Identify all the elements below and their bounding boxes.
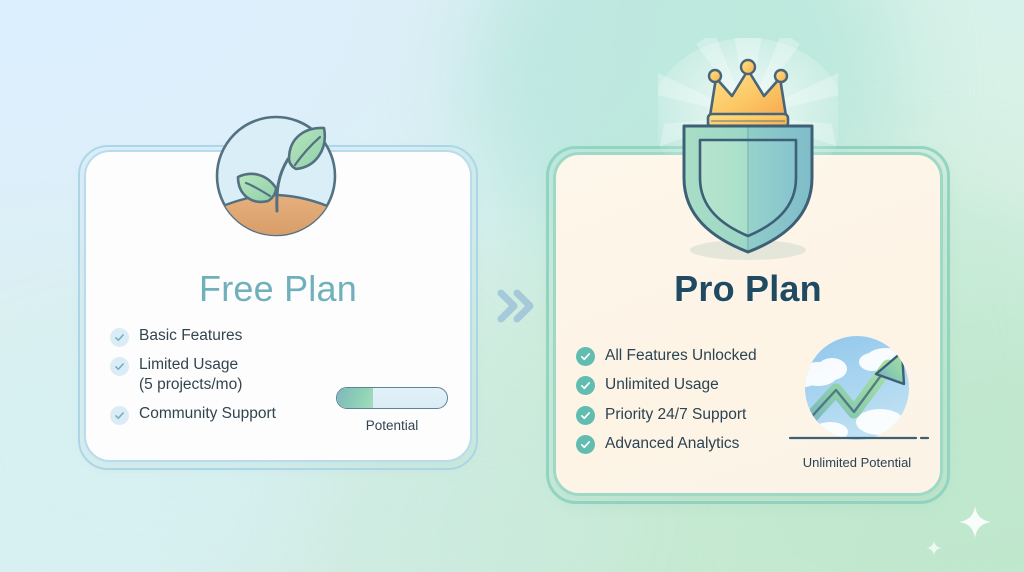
growth-chart-group: Unlimited Potential — [784, 336, 930, 470]
potential-slider-group: Potential — [333, 387, 451, 433]
feature-label: Priority 24/7 Support — [605, 405, 746, 425]
chevron-right-icon — [492, 283, 538, 334]
feature-item: Priority 24/7 Support — [576, 405, 796, 425]
feature-item: Basic Features — [110, 326, 360, 347]
poster-stage: Free Plan Basic Features Limited Usage (… — [0, 0, 1024, 572]
check-icon — [110, 328, 129, 347]
feature-item: All Features Unlocked — [576, 346, 796, 366]
feature-label: Unlimited Usage — [605, 375, 719, 395]
potential-slider[interactable] — [336, 387, 448, 409]
feature-item: Unlimited Usage — [576, 375, 796, 395]
feature-label: Basic Features — [139, 326, 242, 346]
feature-label: Advanced Analytics — [605, 434, 739, 454]
sprout-icon — [210, 115, 342, 237]
feature-item: Advanced Analytics — [576, 434, 796, 454]
growth-arrow-icon — [784, 336, 930, 453]
crowned-shield-icon — [658, 38, 838, 266]
pro-plan-title: Pro Plan — [553, 268, 943, 310]
feature-label: Limited Usage (5 projects/mo) — [139, 355, 242, 396]
free-plan-title: Free Plan — [0, 268, 556, 310]
check-icon — [110, 357, 129, 376]
check-icon — [576, 406, 595, 425]
feature-item: Community Support — [110, 404, 360, 425]
free-plan-feature-list: Basic Features Limited Usage (5 projects… — [110, 326, 360, 433]
feature-label: Community Support — [139, 404, 276, 424]
growth-chart-caption: Unlimited Potential — [784, 455, 930, 470]
pro-plan-feature-list: All Features Unlocked Unlimited Usage Pr… — [576, 346, 796, 464]
feature-item: Limited Usage (5 projects/mo) — [110, 355, 360, 396]
potential-slider-label: Potential — [333, 418, 451, 433]
check-icon — [576, 376, 595, 395]
potential-slider-fill — [337, 388, 373, 408]
check-icon — [110, 406, 129, 425]
check-icon — [576, 435, 595, 454]
check-icon — [576, 347, 595, 366]
feature-label: All Features Unlocked — [605, 346, 757, 366]
